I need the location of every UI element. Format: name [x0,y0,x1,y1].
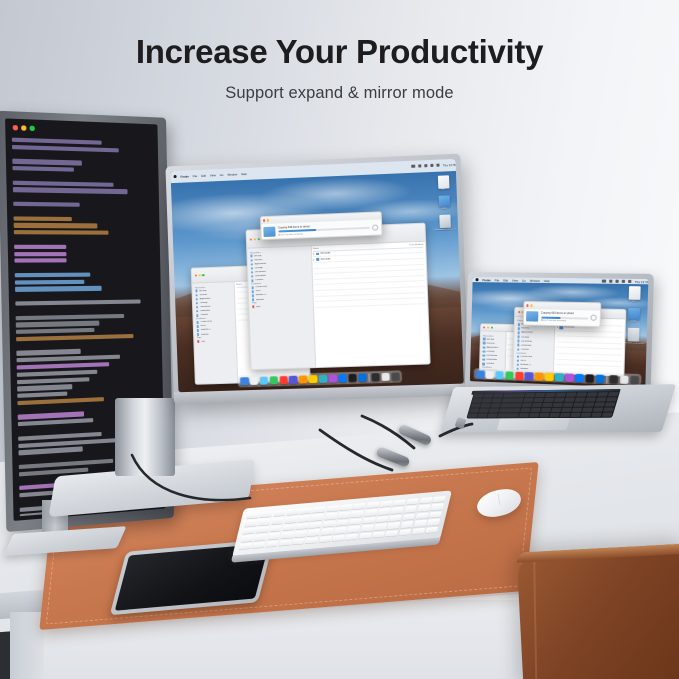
keyboard-key[interactable] [307,529,320,536]
macos-desktop-mirrored: FinderFileEditViewGoWindowHelpThu 13:76 … [470,277,649,388]
keyboard-key[interactable] [499,408,509,412]
minimize-icon[interactable] [267,219,269,221]
sidebar-item-downloads[interactable]: Downloads [516,344,553,348]
keyboard-key[interactable] [502,398,512,402]
desktop-icon[interactable]: Screenshot 2024-05-41X0CE [433,215,456,232]
keyboard-key[interactable] [292,538,305,545]
keyboard-key[interactable] [530,408,541,412]
keyboard-key[interactable] [491,404,501,408]
keyboard-key[interactable] [518,413,529,417]
keyboard-key[interactable] [294,530,307,537]
keyboard-key[interactable] [413,520,426,527]
keyboard-key[interactable] [299,508,312,515]
keyboard-key[interactable] [282,524,295,531]
dock-app-icon[interactable] [250,377,259,386]
dock-app-icon[interactable] [535,372,544,381]
keyboard-key[interactable] [509,408,520,412]
chevron-right-icon[interactable] [313,253,314,255]
code-line [13,180,114,186]
keyboard-key[interactable] [269,525,282,532]
minimize-icon[interactable] [21,125,26,130]
close-icon[interactable] [250,238,252,240]
sidebar-item-label: AirDrop [254,255,261,257]
keyboard-key[interactable] [429,511,442,518]
menubar-item-go[interactable]: Go [220,173,224,177]
keyboard-key[interactable] [524,393,535,397]
keyboard-key[interactable] [387,522,400,529]
keyboard-key[interactable] [360,525,373,532]
keyboard-key[interactable] [311,514,324,521]
keyboard-key[interactable] [358,532,371,539]
keyboard-key[interactable] [488,413,498,417]
keyboard-key[interactable] [246,512,259,519]
sidebar-item-label: SoOs [520,360,526,362]
menubar-item-finder[interactable]: Finder [180,174,189,178]
dock-app-icon[interactable] [609,375,618,384]
dock-app-icon[interactable] [575,373,584,382]
minimize-icon[interactable] [487,326,489,328]
copy-progress-dialog[interactable]: Copying 633 items to 'photo' About 2 min… [260,211,383,240]
control-center-icon[interactable] [615,280,618,283]
keyboard-key[interactable] [468,414,478,418]
keyboard-key[interactable] [539,413,550,417]
sidebar-item-desktop[interactable]: Desktop [516,336,553,340]
dock-app-icon[interactable] [358,373,367,382]
keyboard-key[interactable] [559,413,570,417]
keyboard-key[interactable] [573,403,584,407]
keyboard-key[interactable] [504,393,514,397]
sidebar-item-downloads[interactable]: Downloads [481,358,503,361]
code-line [15,299,140,305]
keyboard-key[interactable] [258,519,271,526]
keyboard-key[interactable] [587,393,598,397]
keyboard-key[interactable] [602,413,613,417]
keyboard-key[interactable] [591,413,602,417]
folder-icon[interactable] [628,308,640,320]
keyboard-key[interactable] [520,408,531,412]
desktop-icon[interactable]: HEIC [628,286,640,303]
sidebar-item-label: Applications [487,346,499,348]
finder-window-front[interactable]: FavouritesAirDropRecentsApplicationsDesk… [246,223,430,370]
menubar-item-window[interactable]: Window [530,278,540,282]
column-date: Date Modified [410,243,424,246]
keyboard-key[interactable] [244,520,257,527]
sidebar-item-icon [517,327,520,330]
keyboard-key[interactable] [545,393,556,397]
close-icon[interactable] [483,326,485,328]
siri-icon[interactable] [437,164,440,167]
keyboard-key[interactable] [584,403,595,407]
dock-app-icon[interactable] [269,376,278,385]
keyboard-key[interactable] [593,408,604,412]
apple-logo-icon[interactable] [174,175,177,178]
control-center-icon[interactable] [424,164,427,167]
dock-app-icon[interactable] [620,375,629,384]
keyboard-key[interactable] [347,526,360,533]
sidebar-item-creative[interactable]: Creative [481,362,503,365]
macos-desktop: FinderFileEditViewGoWindowHelpThu 13:76 … [170,159,463,392]
sidebar-item-label: Desktop [521,336,529,338]
sidebar-item-remote-d-[interactable]: Remote D... [515,363,552,367]
keyboard-key[interactable] [362,517,375,524]
keyboard-key[interactable] [391,507,404,514]
sidebar-item-desktop[interactable]: Desktop [482,350,504,353]
sidebar-item-applications[interactable]: Applications [516,331,553,335]
dock-app-icon[interactable] [371,373,380,382]
keyboard-key[interactable] [252,542,265,549]
sidebar-item-creative[interactable]: Creative [516,348,553,352]
keyboard-key[interactable] [534,393,545,397]
keyboard-key[interactable] [271,518,284,525]
keyboard-key[interactable] [603,408,614,412]
keyboard-key[interactable] [309,522,322,529]
dock-app-icon[interactable] [595,374,604,383]
dock-app-icon[interactable] [565,373,574,382]
menubar-status-area[interactable]: Thu 13:76 [412,163,459,169]
keyboard-key[interactable] [533,398,544,402]
cancel-copy-button[interactable] [372,224,378,230]
close-icon[interactable] [527,304,529,306]
sidebar-item-label: Remote D... [520,364,532,366]
keyboard-key[interactable] [256,526,269,533]
sidebar-item-icon [483,350,486,353]
dock-app-icon[interactable] [505,371,514,380]
menubar-item-file[interactable]: File [193,174,198,178]
keyboard-key[interactable] [324,513,337,520]
keyboard-key[interactable] [481,404,491,408]
keyboard-key[interactable] [364,509,377,516]
keyboard-key[interactable] [597,392,608,396]
keyboard-key[interactable] [523,398,534,402]
code-line [15,272,90,277]
keyboard-key[interactable] [385,530,398,537]
keyboard-key[interactable] [472,399,482,403]
keyboard-key[interactable] [406,498,419,505]
menubar-item-view[interactable]: View [210,173,216,177]
keyboard-key[interactable] [540,408,551,412]
sidebar-item-recents[interactable]: Recents [516,327,553,331]
folder-icon [316,252,319,255]
dock-app-icon[interactable] [495,371,504,380]
sidebar-item-creative[interactable]: Creative [195,313,233,317]
keyboard-key[interactable] [521,403,532,407]
finder-sidebar[interactable]: FavouritesAirDropRecentsApplicationsDesk… [192,282,238,385]
screenshot-icon[interactable] [627,328,639,342]
desktop-icons[interactable]: HEICphotoScreenshot 2024-05-41X0CE [432,175,456,232]
keyboard-key[interactable] [432,496,445,503]
page-subtitle: Support expand & mirror mode [0,84,679,103]
code-line [13,187,128,193]
keyboard-key[interactable] [322,521,335,528]
menubar-item-view[interactable]: View [512,278,518,282]
maximize-icon[interactable] [491,326,493,328]
sidebar-item-icon [251,286,254,289]
keyboard-key[interactable] [608,392,619,396]
keyboard-key[interactable] [254,534,267,541]
code-line [16,328,94,334]
dock-app-icon[interactable] [328,374,337,383]
menubar-item-edit[interactable]: Edit [201,173,206,177]
keyboard-key[interactable] [313,506,326,513]
keyboard-key[interactable] [552,403,563,407]
code-line [14,259,67,264]
dock-app-icon[interactable] [260,376,269,385]
maximize-icon[interactable] [30,126,35,131]
finder-file-list[interactable]: Name Date Modified IMG-0680IMG-0690 [311,242,429,368]
sidebar-item-label: Documents [255,271,266,273]
sidebar-item-airdrop[interactable]: AirDrop [482,338,504,341]
laptop-trackpad[interactable] [497,418,570,430]
cancel-copy-button[interactable] [590,315,596,321]
keyboard-key[interactable] [563,403,574,407]
menubar-item-help[interactable]: Help [544,279,550,283]
keyboard-key[interactable] [417,505,430,512]
chevron-right-icon[interactable] [313,259,314,261]
keyboard-key[interactable] [566,393,577,397]
keyboard-key[interactable] [596,397,607,401]
keyboard-key[interactable] [400,521,413,528]
copy-progress-dialog[interactable]: Copying 633 items to 'photo' About 2 min… [522,301,600,327]
menubar-item-help[interactable]: Help [241,172,247,176]
keyboard-key[interactable] [561,408,572,412]
copy-folder-icon [263,226,275,236]
close-icon[interactable] [263,219,265,221]
keyboard-key[interactable] [242,527,255,534]
dock-app-icon[interactable] [338,374,347,383]
keyboard-key[interactable] [273,510,286,517]
keyboard-key[interactable] [392,499,405,506]
keyboard-key[interactable] [554,398,565,402]
keyboard-key[interactable] [549,413,560,417]
sidebar-item-applications[interactable]: Applications [482,346,504,349]
keyboard-key[interactable] [585,398,596,402]
sidebar-item-documents[interactable]: Documents [516,340,553,344]
menubar-item-window[interactable]: Window [227,172,237,176]
keyboard-key[interactable] [326,505,339,512]
dock-app-icon[interactable] [309,375,318,384]
maximize-icon[interactable] [202,274,204,276]
dock-app-icon[interactable] [630,375,639,384]
keyboard-key[interactable] [267,533,280,540]
sidebar-item-label: Red [201,340,205,342]
keyboard-key[interactable] [606,397,617,401]
menubar-clock[interactable]: Thu 13:76 [443,163,456,168]
siri-icon[interactable] [628,280,631,283]
keyboard-key[interactable] [398,529,411,536]
keyboard-key[interactable] [594,403,605,407]
minimize-icon[interactable] [530,304,532,306]
dock-app-icon[interactable] [485,370,494,379]
keyboard-key[interactable] [281,532,294,539]
laptop-keyboard[interactable] [466,391,620,419]
dock-app-icon[interactable] [545,372,554,381]
sidebar-item-red[interactable]: Red [196,339,234,343]
sidebar-item-icloud-drive[interactable]: iCloud Drive [515,355,552,359]
dock-app-icon[interactable] [279,376,288,385]
keyboard-key[interactable] [319,536,332,543]
keyboard-key[interactable] [332,535,345,542]
menubar-clock[interactable]: Thu 13:76 [635,280,649,284]
apple-logo-icon[interactable] [476,278,479,281]
keyboard-key[interactable] [580,413,591,417]
dock-app-icon[interactable] [348,374,357,383]
keyboard-key[interactable] [582,408,593,412]
dock-app-icon[interactable] [555,373,564,382]
keyboard-key[interactable] [489,408,499,412]
sidebar-item-icon [196,310,199,313]
keyboard-key[interactable] [469,409,479,413]
dialog-content: Copying 633 items to 'photo' About 2 min… [524,309,600,326]
minimize-icon[interactable] [198,274,200,276]
keyboard-key[interactable] [375,516,388,523]
keyboard-key[interactable] [576,393,587,397]
keyboard-key[interactable] [260,511,273,518]
keyboard-key[interactable] [492,399,502,403]
keyboard-key[interactable] [484,394,494,398]
menubar-item-finder[interactable]: Finder [482,278,491,282]
keyboard-key[interactable] [379,501,392,508]
maximize-icon[interactable] [257,238,259,240]
screenshot-icon[interactable] [439,215,451,229]
battery-icon[interactable] [418,165,421,168]
keyboard-key[interactable] [531,403,542,407]
desktop-icon[interactable]: photo [627,308,639,323]
keyboard-key[interactable] [514,393,525,397]
sidebar-item-label: Documents [521,340,532,342]
keyboard-key[interactable] [570,413,581,417]
keyboard-key[interactable] [494,394,504,398]
document-icon[interactable] [437,175,449,189]
sidebar-item-soos[interactable]: SoOs [515,359,552,363]
dock-app-icon[interactable] [381,373,390,382]
keyboard-key[interactable] [479,409,489,413]
keyboard-key[interactable] [377,508,390,515]
document-icon[interactable] [628,286,640,300]
keyboard-key[interactable] [402,514,415,521]
keyboard-key[interactable] [542,403,553,407]
keyboard-key[interactable] [305,537,318,544]
keyboard-key[interactable] [425,526,438,533]
keyboard-key[interactable] [555,393,566,397]
dock-app-icon[interactable] [525,372,534,381]
dock-app-icon[interactable] [289,375,298,384]
keyboard-key[interactable] [241,535,254,542]
keyboard-key[interactable] [296,523,309,530]
keyboard-key[interactable] [336,519,349,526]
code-line [17,384,72,391]
dock-app-icon[interactable] [240,377,249,386]
keyboard-key[interactable] [334,527,347,534]
keyboard-key[interactable] [478,414,488,418]
keyboard-key[interactable] [284,516,297,523]
close-icon[interactable] [518,311,520,313]
sidebar-item-label: Downloads [255,275,266,277]
keyboard-key[interactable] [372,531,385,538]
chevron-right-icon[interactable] [557,326,558,328]
keyboard-key[interactable] [412,528,425,535]
keyboard-key[interactable] [366,502,379,509]
keyboard-key[interactable] [473,394,483,398]
keyboard-key[interactable] [349,518,362,525]
keyboard-key[interactable] [320,528,333,535]
keyboard-key[interactable] [404,506,417,513]
keyboard-key[interactable] [265,540,278,547]
close-icon[interactable] [195,274,197,276]
keyboard-key[interactable] [353,503,366,510]
desktop-icon[interactable]: photo [438,196,450,210]
keyboard-key[interactable] [345,533,358,540]
menubar-item-file[interactable]: File [495,278,500,282]
menubar-item-go[interactable]: Go [522,278,526,282]
keyboard-key[interactable] [239,543,252,550]
keyboard-key[interactable] [551,408,562,412]
keyboard-key[interactable] [374,523,387,530]
minimize-icon[interactable] [254,238,256,240]
keyboard-key[interactable] [430,504,443,511]
dock-app-icon[interactable] [299,375,308,384]
menubar-item-edit[interactable]: Edit [503,278,508,282]
finder-sidebar[interactable]: FavouritesAirDropRecentsApplicationsDesk… [248,246,316,370]
keyboard-key[interactable] [482,399,492,403]
sidebar-item-label: Downloads [200,310,211,312]
keyboard-key[interactable] [427,519,440,526]
dock-app-icon[interactable] [391,372,400,381]
search-icon[interactable] [622,280,625,283]
keyboard-key[interactable] [389,515,402,522]
search-icon[interactable] [430,164,433,167]
sidebar-item-documents[interactable]: Documents [481,354,503,357]
keyboard-key[interactable] [279,539,292,546]
keyboard-key[interactable] [564,398,575,402]
keyboard-key[interactable] [415,512,428,519]
keyboard-key[interactable] [351,511,364,518]
dock-app-icon[interactable] [515,371,524,380]
keyboard-key[interactable] [543,398,554,402]
keyboard-key[interactable] [298,515,311,522]
keyboard-key[interactable] [471,404,481,408]
keyboard-key[interactable] [574,398,585,402]
keyboard-key[interactable] [605,402,616,406]
keyboard-key[interactable] [286,509,299,516]
keyboard-key[interactable] [501,403,511,407]
keyboard-key[interactable] [528,413,539,417]
dock-app-icon[interactable] [476,370,485,379]
menubar-status-area[interactable]: Thu 13:76 [602,279,648,284]
wifi-icon[interactable] [412,165,415,168]
keyboard-key[interactable] [508,413,519,417]
folder-icon[interactable] [438,196,450,208]
dock-app-icon[interactable] [318,374,327,383]
dialog-text: Copying 633 items to 'photo' About 2 min… [278,222,370,236]
keyboard-key[interactable] [512,398,523,402]
dock-app-icon[interactable] [585,374,594,383]
keyboard-key[interactable] [419,497,432,504]
battery-icon[interactable] [609,280,612,283]
laptop-screen: FinderFileEditViewGoWindowHelpThu 13:76 … [470,277,649,388]
wifi-icon[interactable] [602,280,605,283]
window-traffic-lights[interactable] [13,125,35,131]
keyboard-key[interactable] [337,512,350,519]
desktop-icon[interactable]: HEIC [437,175,449,191]
keyboard-key[interactable] [571,408,582,412]
sidebar-item-network[interactable]: Network [196,332,234,336]
sidebar-item-icon [251,275,254,278]
close-icon[interactable] [13,125,18,130]
keyboard-key[interactable] [339,504,352,511]
keyboard-key[interactable] [498,413,508,417]
keyboard-key[interactable] [511,403,522,407]
sidebar-item-recents[interactable]: Recents [482,342,504,345]
